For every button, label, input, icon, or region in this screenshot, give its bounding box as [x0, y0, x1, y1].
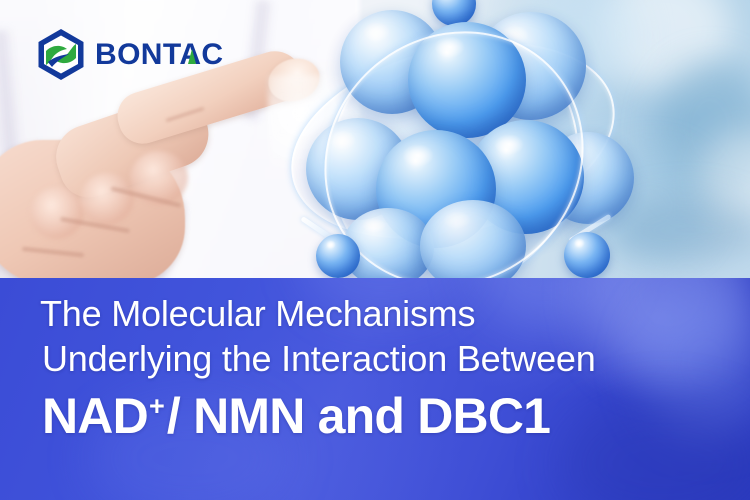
title-line-3: NAD+/ NMN and DBC1 — [42, 384, 740, 448]
hand-knuckle — [30, 187, 84, 239]
brand-wordmark: BONTAC — [95, 40, 224, 70]
title-line-2: Underlying the Interaction Between — [42, 336, 740, 382]
title-line-3-superscript: + — [149, 391, 164, 421]
hero-photo-area: BONTAC — [0, 0, 750, 280]
molecule-cluster-icon — [280, 0, 640, 280]
title-line-1: The Molecular Mechanisms — [40, 292, 740, 336]
hexagon-leaf-logo-icon — [36, 28, 86, 81]
hand-knuckle — [80, 173, 134, 225]
molecule-satellite-atom — [316, 234, 360, 278]
title-banner: The Molecular Mechanisms Underlying the … — [0, 278, 750, 500]
molecule-satellite-atom — [564, 232, 610, 278]
title-line-3-rest: / NMN and DBC1 — [167, 388, 550, 444]
logo-green-accent-icon — [188, 49, 196, 64]
brand-logo[interactable]: BONTAC — [36, 28, 224, 81]
title-line-3-nad: NAD — [42, 388, 148, 444]
article-hero-banner: BONTAC The Molecular Mechanisms Underlyi… — [0, 0, 750, 500]
brand-name-text: BONTAC — [95, 38, 224, 71]
background-bokeh-4 — [700, 130, 750, 230]
article-title: The Molecular Mechanisms Underlying the … — [40, 292, 740, 448]
background-bokeh-2 — [655, 60, 750, 200]
